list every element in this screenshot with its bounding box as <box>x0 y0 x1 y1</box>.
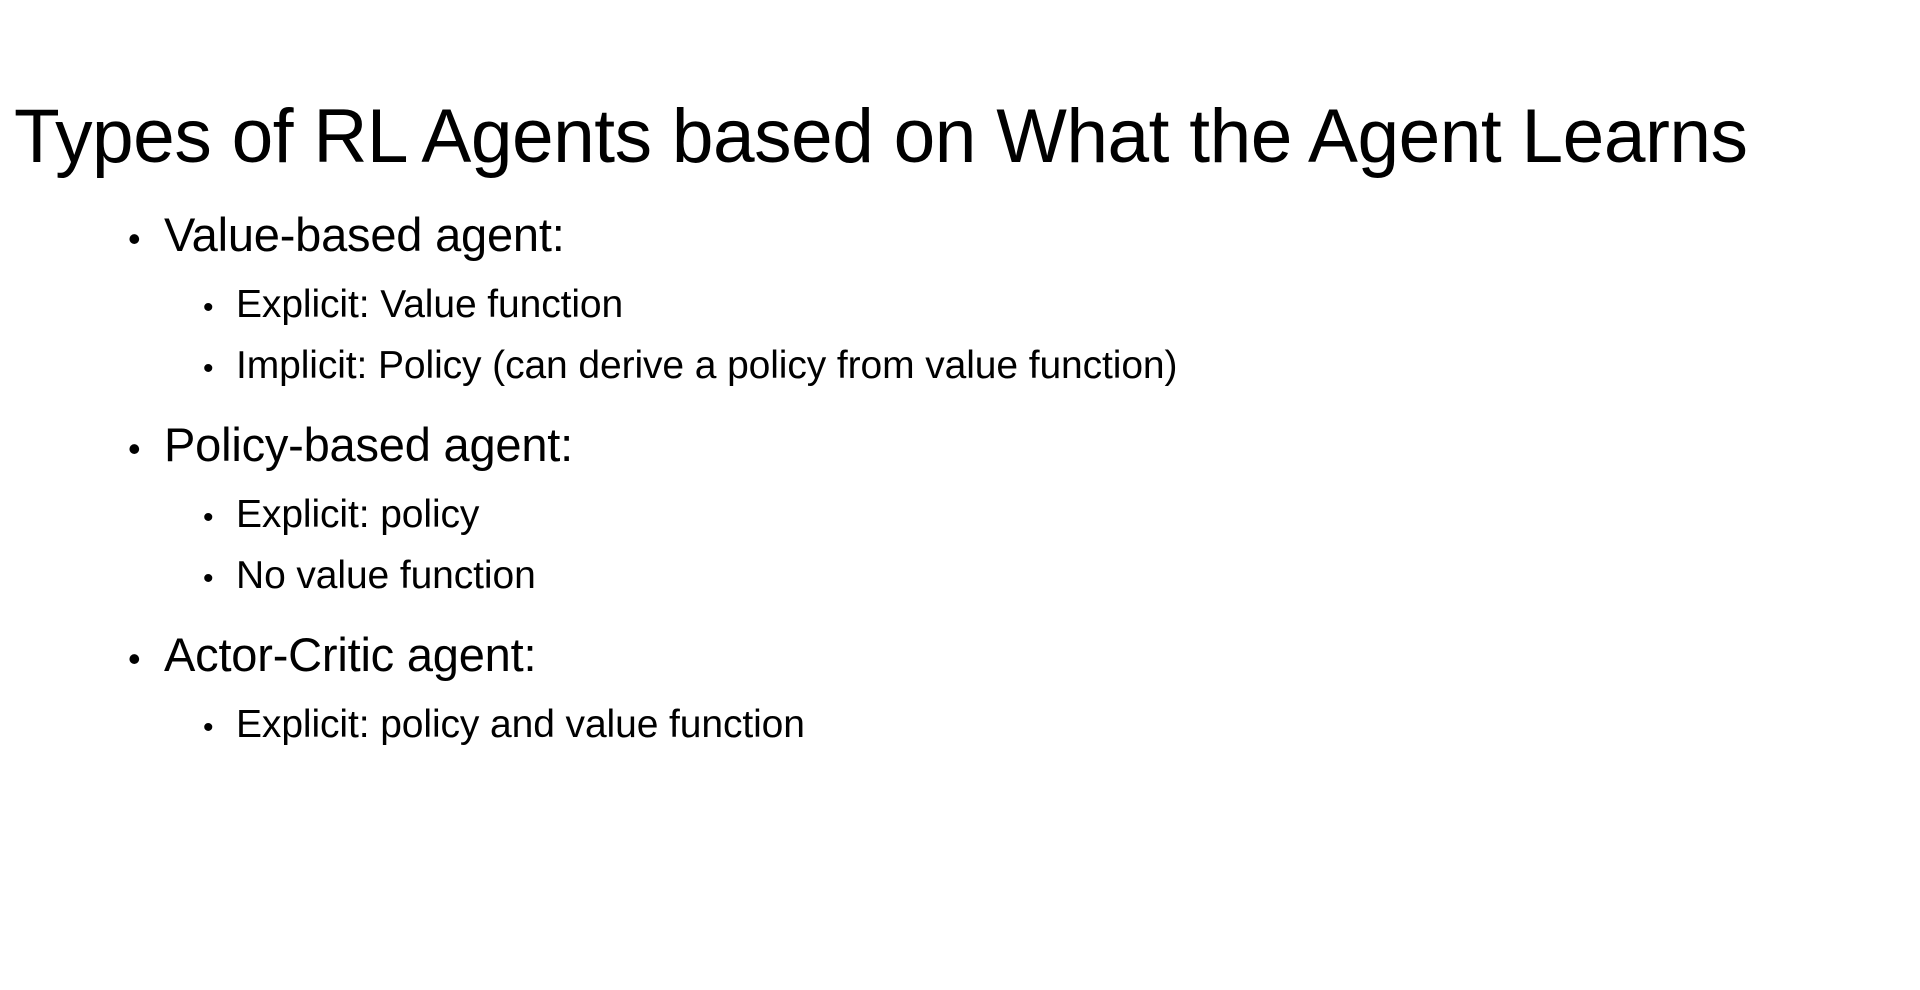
list-item-label: Explicit: policy and value function <box>236 694 805 755</box>
slide-canvas: Types of RL Agents based on What the Age… <box>0 0 1920 990</box>
list-item-label: Actor-Critic agent: <box>164 616 536 694</box>
list-item-label: Implicit: Policy (can derive a policy fr… <box>236 335 1177 396</box>
list-item-label: Policy-based agent: <box>164 406 573 484</box>
page-title: Types of RL Agents based on What the Age… <box>14 89 1878 185</box>
bullet-point-icon: • <box>203 338 236 399</box>
bullet-point-icon: • <box>128 620 164 698</box>
list-item-level2: • Implicit: Policy (can derive a policy … <box>0 335 1920 396</box>
bullet-point-icon: • <box>203 487 236 548</box>
list-item-label: Value-based agent: <box>164 196 565 274</box>
list-item-label: Explicit: Value function <box>236 274 623 335</box>
list-item-level2: • Explicit: policy <box>0 484 1920 545</box>
bullet-point-icon: • <box>203 548 236 609</box>
bullet-point-icon: • <box>203 697 236 758</box>
list-item-level1: • Value-based agent: <box>0 196 1920 274</box>
list-item-level2: • Explicit: Value function <box>0 274 1920 335</box>
bullet-point-icon: • <box>203 277 236 338</box>
bullet-point-icon: • <box>128 200 164 278</box>
list-item-label: No value function <box>236 545 536 606</box>
list-item-level1: • Policy-based agent: <box>0 406 1920 484</box>
list-item-label: Explicit: policy <box>236 484 479 545</box>
list-item-level2: • No value function <box>0 545 1920 606</box>
list-item-level1: • Actor-Critic agent: <box>0 616 1920 694</box>
bullet-point-icon: • <box>128 410 164 488</box>
list-item-level2: • Explicit: policy and value function <box>0 694 1920 755</box>
bullet-outline: • Value-based agent: • Explicit: Value f… <box>0 196 1920 755</box>
